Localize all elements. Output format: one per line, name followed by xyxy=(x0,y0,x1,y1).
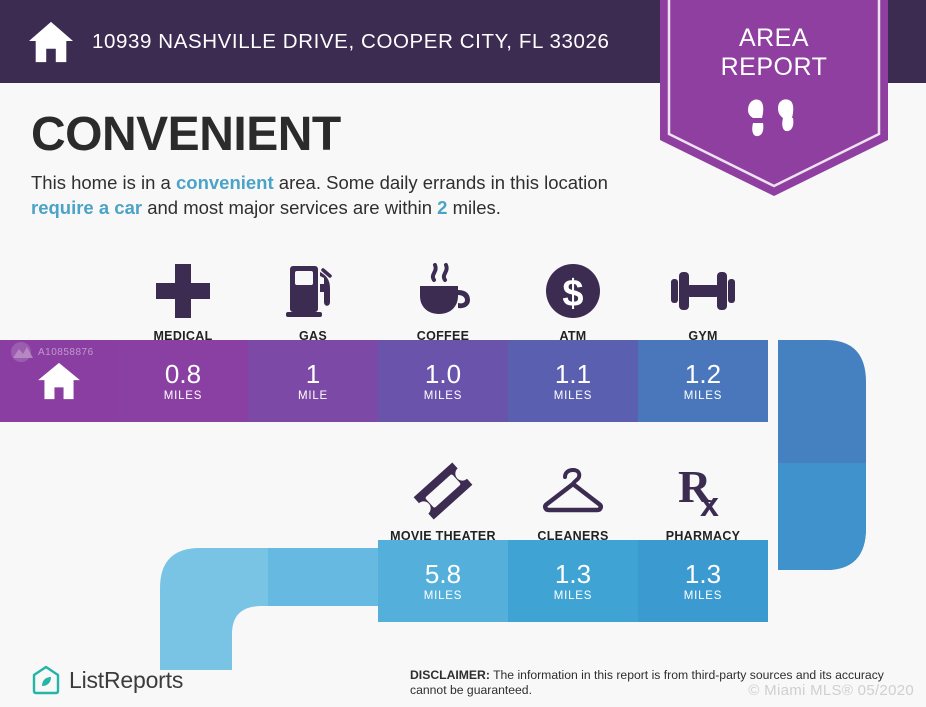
page-title: CONVENIENT xyxy=(31,108,341,162)
distance-unit: MILES xyxy=(424,390,463,402)
distance-segment-pharmacy: 1.3MILES xyxy=(638,540,768,622)
summary-part-3: and most major services are within xyxy=(142,197,437,218)
distance-segment-gas: 1MILE xyxy=(248,340,378,422)
home-icon xyxy=(28,20,74,64)
service-cell-coffee: COFFEE xyxy=(378,248,508,343)
summary-highlight-2: require a car xyxy=(31,197,142,218)
summary-part-4: miles. xyxy=(447,197,500,218)
service-label: MOVIE THEATER xyxy=(390,529,496,543)
rx-icon: R x xyxy=(674,460,732,522)
distance-value: 0.8 xyxy=(165,361,201,388)
summary-highlight-3: 2 xyxy=(437,197,447,218)
footprints-icon xyxy=(742,96,806,154)
svg-text:$: $ xyxy=(562,273,583,315)
service-cell-pharmacy: R x PHARMACY xyxy=(638,448,768,543)
service-icon-row-1: MEDICAL GAS COFFEE $ ATM GYM xyxy=(118,248,778,343)
badge-line-1: AREA xyxy=(660,24,888,53)
mls-watermark: A10858876 xyxy=(10,341,94,363)
distance-value: 1.2 xyxy=(685,361,721,388)
coffee-cup-icon xyxy=(414,260,472,322)
mls-id: A10858876 xyxy=(38,347,94,358)
service-cell-atm: $ ATM xyxy=(508,248,638,343)
listreports-logo: ListReports xyxy=(32,665,183,695)
movie-ticket-icon xyxy=(413,460,473,522)
mls-logo-icon xyxy=(10,341,36,363)
service-icon-row-2: MOVIE THEATER CLEANERS R x PHARMACY xyxy=(378,448,778,543)
property-address: 10939 NASHVILLE DRIVE, COOPER CITY, FL 3… xyxy=(92,30,610,54)
home-icon xyxy=(37,361,81,401)
distance-value: 1.3 xyxy=(555,561,591,588)
gas-pump-icon xyxy=(284,260,342,322)
distance-segment-gym: 1.2MILES xyxy=(638,340,768,422)
distance-unit: MILES xyxy=(684,390,723,402)
medical-cross-icon xyxy=(154,260,212,322)
service-cell-medical: MEDICAL xyxy=(118,248,248,343)
summary-text: This home is in a convenient area. Some … xyxy=(31,170,631,220)
service-cell-gym: GYM xyxy=(638,248,768,343)
distance-segment-movie-theater: 5.8MILES xyxy=(378,540,508,622)
distance-unit: MILES xyxy=(554,390,593,402)
distance-unit: MILES xyxy=(554,590,593,602)
distance-unit: MILES xyxy=(164,390,203,402)
distance-segment-coffee: 1.0MILES xyxy=(378,340,508,422)
service-label: CLEANERS xyxy=(537,529,608,543)
service-label: PHARMACY xyxy=(666,529,741,543)
summary-highlight-1: convenient xyxy=(176,172,274,193)
dumbbell-icon xyxy=(668,260,738,322)
disclaimer-label: DISCLAIMER: xyxy=(410,668,490,682)
distance-unit: MILES xyxy=(684,590,723,602)
distance-segment-cleaners: 1.3MILES xyxy=(508,540,638,622)
distance-segment-medical: 0.8MILES xyxy=(118,340,248,422)
summary-part-1: This home is in a xyxy=(31,172,176,193)
badge-line-2: REPORT xyxy=(660,53,888,82)
service-cell-movie-theater: MOVIE THEATER xyxy=(378,448,508,543)
distance-value: 1.1 xyxy=(555,361,591,388)
svg-text:x: x xyxy=(700,486,719,520)
distance-value: 1 xyxy=(306,361,320,388)
summary-part-2: area. Some daily errands in this locatio… xyxy=(274,172,608,193)
service-cell-cleaners: CLEANERS xyxy=(508,448,638,543)
badge-title: AREA REPORT xyxy=(660,24,888,82)
distance-value: 5.8 xyxy=(425,561,461,588)
distance-unit: MILES xyxy=(424,590,463,602)
distance-value: 1.0 xyxy=(425,361,461,388)
snake-right-turn-lower xyxy=(778,463,866,570)
listreports-house-icon xyxy=(32,665,60,695)
disclaimer: DISCLAIMER: The information in this repo… xyxy=(410,668,910,698)
area-report-badge: AREA REPORT xyxy=(660,0,888,196)
distance-unit: MILE xyxy=(298,390,328,402)
area-report-page: 10939 NASHVILLE DRIVE, COOPER CITY, FL 3… xyxy=(0,0,926,707)
distance-value: 1.3 xyxy=(685,561,721,588)
service-cell-gas: GAS xyxy=(248,248,378,343)
listreports-brand: ListReports xyxy=(69,667,183,694)
dollar-coin-icon: $ xyxy=(544,260,602,322)
distance-segment-atm: 1.1MILES xyxy=(508,340,638,422)
hanger-icon xyxy=(541,460,605,522)
